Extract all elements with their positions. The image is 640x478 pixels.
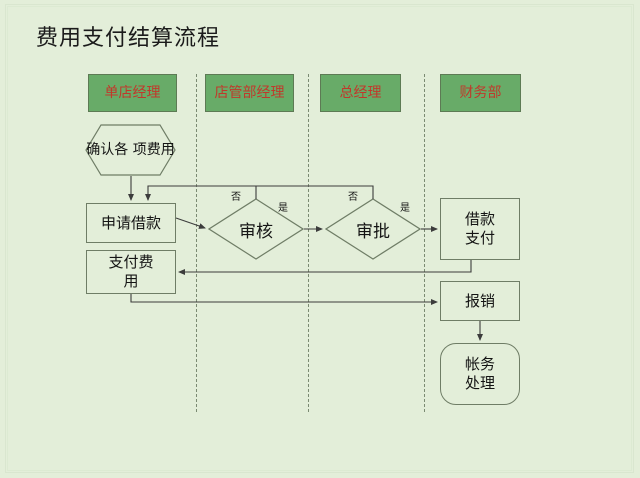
connector-loan-payment-to-pay-fees <box>179 260 471 272</box>
lane-header-label: 店管部经理 <box>215 85 285 101</box>
node-label: 支付费 用 <box>108 253 153 291</box>
node-label: 确认各 项费用 <box>86 141 174 160</box>
branch-label-approve-no: 否 <box>348 188 358 203</box>
node-label-line2: 用 <box>108 272 153 291</box>
lane-header-label: 单店经理 <box>105 85 161 101</box>
node-label-line1: 支付费 <box>108 253 153 272</box>
node-label-line1: 借款 <box>465 210 495 229</box>
node-accounting[interactable]: 帐务 处理 <box>440 343 520 405</box>
node-loan-payment[interactable]: 借款 支付 <box>440 198 520 260</box>
node-label-line1: 帐务 <box>465 355 495 374</box>
node-confirm-fees[interactable]: 确认各 项费用 <box>85 124 176 176</box>
node-label: 借款 支付 <box>465 210 495 248</box>
branch-label-review-no: 否 <box>231 188 241 203</box>
node-pay-fees[interactable]: 支付费 用 <box>86 250 176 294</box>
lane-divider-1 <box>196 74 197 412</box>
branch-label-approve-yes: 是 <box>400 199 410 214</box>
connector-apply-to-review <box>176 218 205 228</box>
node-label-line2: 支付 <box>465 229 495 248</box>
node-label: 审批 <box>356 217 390 242</box>
node-reimburse[interactable]: 报销 <box>440 281 520 321</box>
node-label-line2: 项费用 <box>133 142 175 158</box>
lane-divider-3 <box>424 74 425 412</box>
node-label: 报销 <box>465 292 495 311</box>
lane-header-zongjingli[interactable]: 总经理 <box>320 74 401 112</box>
lane-header-label: 财务部 <box>460 85 502 101</box>
node-apply-loan[interactable]: 申请借款 <box>86 203 176 243</box>
lane-header-dianjingli[interactable]: 单店经理 <box>88 74 177 112</box>
node-label: 帐务 处理 <box>465 355 495 393</box>
node-label-line1: 确认各 <box>86 142 128 158</box>
lane-header-dianguanbujingli[interactable]: 店管部经理 <box>205 74 294 112</box>
connector-pay-fees-to-reimburse <box>131 294 437 302</box>
node-label: 申请借款 <box>101 214 161 233</box>
lane-header-label: 总经理 <box>340 85 382 101</box>
node-label-line2: 处理 <box>465 374 495 393</box>
lane-header-caiwubu[interactable]: 财务部 <box>440 74 521 112</box>
lane-divider-2 <box>308 74 309 412</box>
page-title: 费用支付结算流程 <box>36 24 220 54</box>
node-review[interactable]: 审核 <box>208 198 304 260</box>
node-label: 审核 <box>239 217 273 242</box>
slide-canvas: 费用支付结算流程 单店经理 店管部经理 总经理 财务部 确认各 项费用 申请借款… <box>0 0 640 478</box>
branch-label-review-yes: 是 <box>278 199 288 214</box>
